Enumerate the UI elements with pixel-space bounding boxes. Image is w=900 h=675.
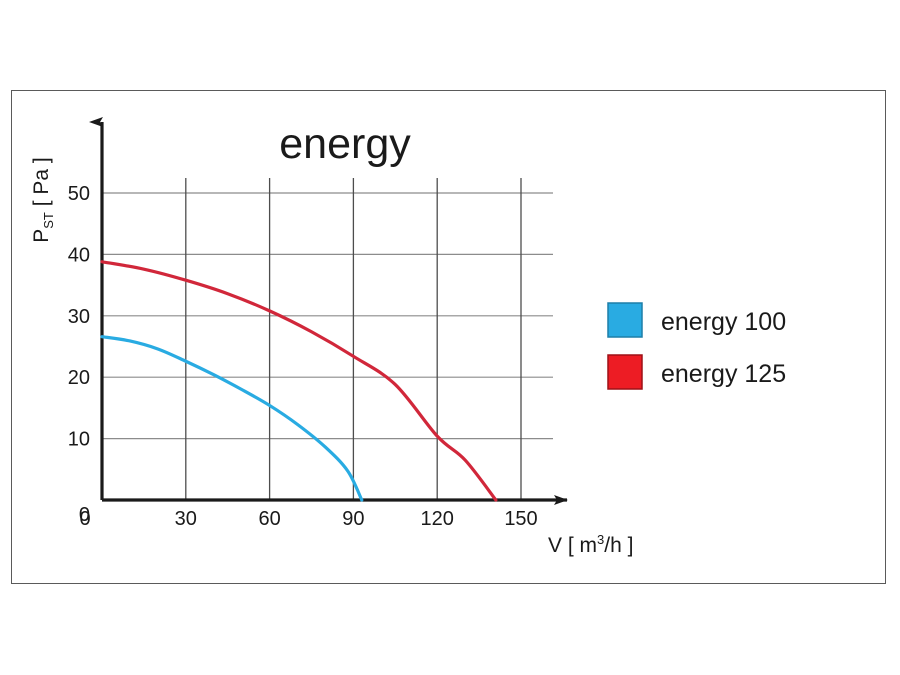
y-tick-label-50: 50 xyxy=(68,183,90,205)
x-axis-title-open: [ m xyxy=(568,534,597,557)
chart-canvas: 0 30 60 90 120 150 0 10 20 30 40 50 ener… xyxy=(0,0,900,675)
legend-item-energy-125[interactable]: energy 125 xyxy=(608,355,786,389)
chart-legend: energy 100 energy 125 xyxy=(608,303,786,389)
y-tick-label-10: 10 xyxy=(68,429,90,451)
legend-swatch-energy-125 xyxy=(608,355,642,389)
y-tick-label-40: 40 xyxy=(68,244,90,266)
y-tick-label-20: 20 xyxy=(68,367,90,389)
x-tick-label-150: 150 xyxy=(504,508,537,530)
legend-label-energy-100: energy 100 xyxy=(661,308,786,336)
x-tick-label-120: 120 xyxy=(421,508,454,530)
chart-page: 0 30 60 90 120 150 0 10 20 30 40 50 ener… xyxy=(0,0,900,675)
legend-swatch-energy-100 xyxy=(608,303,642,337)
x-axis-title-sup: 3 xyxy=(597,532,604,547)
chart-title: energy xyxy=(279,120,411,168)
x-tick-labels: 0 30 60 90 120 150 xyxy=(79,508,537,530)
x-axis-title-symbol: V xyxy=(548,534,562,557)
x-tick-label-60: 60 xyxy=(258,508,280,530)
horizontal-gridlines xyxy=(102,193,553,439)
y-tick-labels: 0 10 20 30 40 50 xyxy=(68,183,90,526)
x-tick-label-90: 90 xyxy=(342,508,364,530)
y-tick-label-30: 30 xyxy=(68,306,90,328)
y-axis-title-unit: [ Pa ] xyxy=(30,157,53,206)
legend-item-energy-100[interactable]: energy 100 xyxy=(608,303,786,337)
x-axis-title-close: /h ] xyxy=(604,534,633,557)
vertical-gridlines xyxy=(186,178,521,500)
y-axis-title: PST [ Pa ] xyxy=(30,157,56,243)
svg-text:PST [ Pa ]: PST [ Pa ] xyxy=(30,157,56,243)
x-axis-title: V [ m3/h ] xyxy=(548,532,633,557)
legend-label-energy-125: energy 125 xyxy=(661,360,786,388)
y-tick-label-0: 0 xyxy=(79,504,90,526)
y-axis-title-symbol: P xyxy=(30,229,53,243)
y-axis-title-sub: ST xyxy=(41,212,56,229)
x-tick-label-30: 30 xyxy=(175,508,197,530)
series-line-energy-100 xyxy=(102,337,362,500)
